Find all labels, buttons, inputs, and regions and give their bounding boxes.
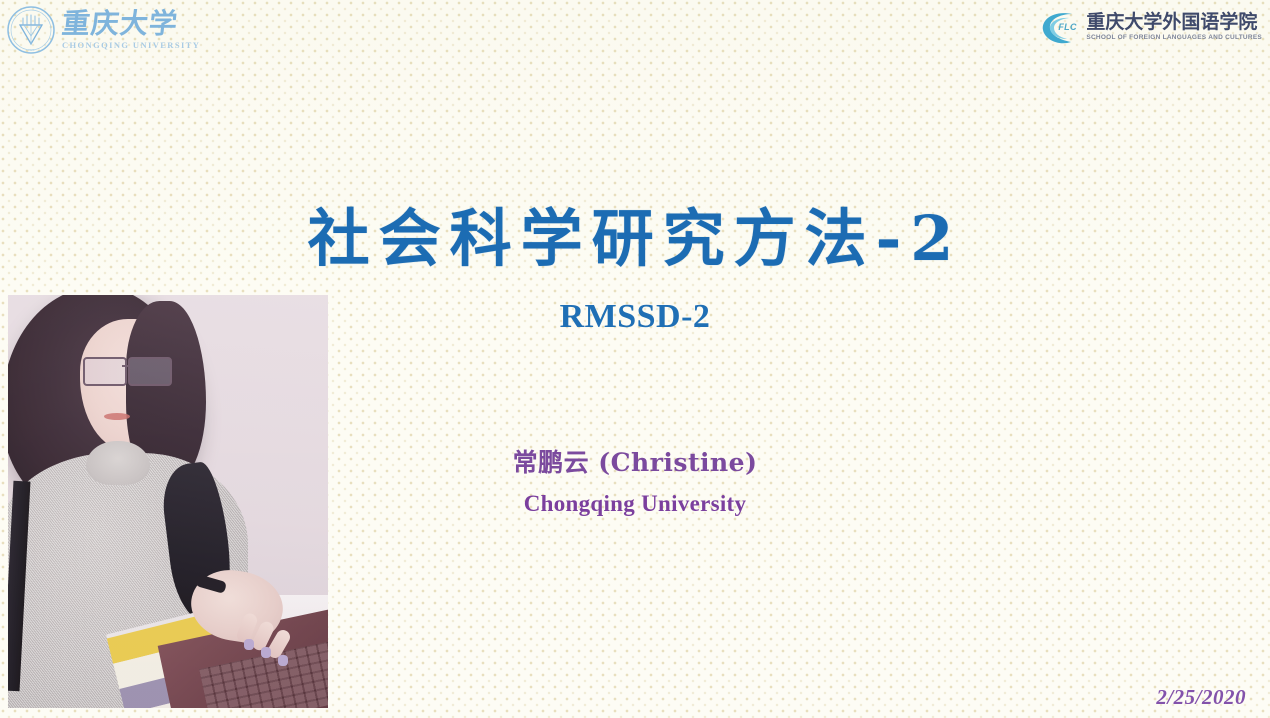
chongqing-university-logo: 1929 重庆大学 CHONGQING UNIVERSITY [6, 2, 178, 58]
sweater-collar [86, 441, 150, 485]
nail-2 [261, 647, 271, 658]
flc-school-logo: FLC 重庆大学外国语学院 SCHOOL OF FOREIGN LANGUAGE… [1039, 4, 1262, 50]
flc-swoosh-icon: FLC [1039, 6, 1081, 48]
glasses-left-lens [83, 357, 127, 386]
webcam-scene [8, 295, 328, 708]
presentation-slide: 1929 重庆大学 CHONGQING UNIVERSITY FLC 重庆大学外… [0, 0, 1270, 718]
presenter-webcam-video[interactable] [8, 295, 328, 708]
cqu-wordmark: 重庆大学 CHONGQING UNIVERSITY [62, 10, 200, 50]
slide-date: 2/25/2020 [1156, 685, 1246, 710]
cqu-name-en: CHONGQING UNIVERSITY [62, 41, 200, 50]
glasses-right-lens [128, 357, 172, 386]
slide-title-cn: 社会科学研究方法-2 [0, 206, 1270, 272]
flc-name-cn: 重庆大学外国语学院 [1086, 13, 1262, 32]
nail-3 [278, 655, 288, 666]
chongqing-university-seal-icon: 1929 [6, 5, 56, 55]
glasses-bridge [122, 365, 130, 367]
nail-1 [244, 639, 254, 650]
lips [104, 413, 130, 420]
svg-text:1929: 1929 [28, 48, 35, 52]
cqu-name-cn: 重庆大学 [61, 10, 202, 38]
flc-name-en: SCHOOL OF FOREIGN LANGUAGES AND CULTURES [1086, 35, 1262, 42]
flc-wordmark: 重庆大学外国语学院 SCHOOL OF FOREIGN LANGUAGES AN… [1086, 13, 1262, 42]
flc-mark-text: FLC [1058, 22, 1076, 32]
